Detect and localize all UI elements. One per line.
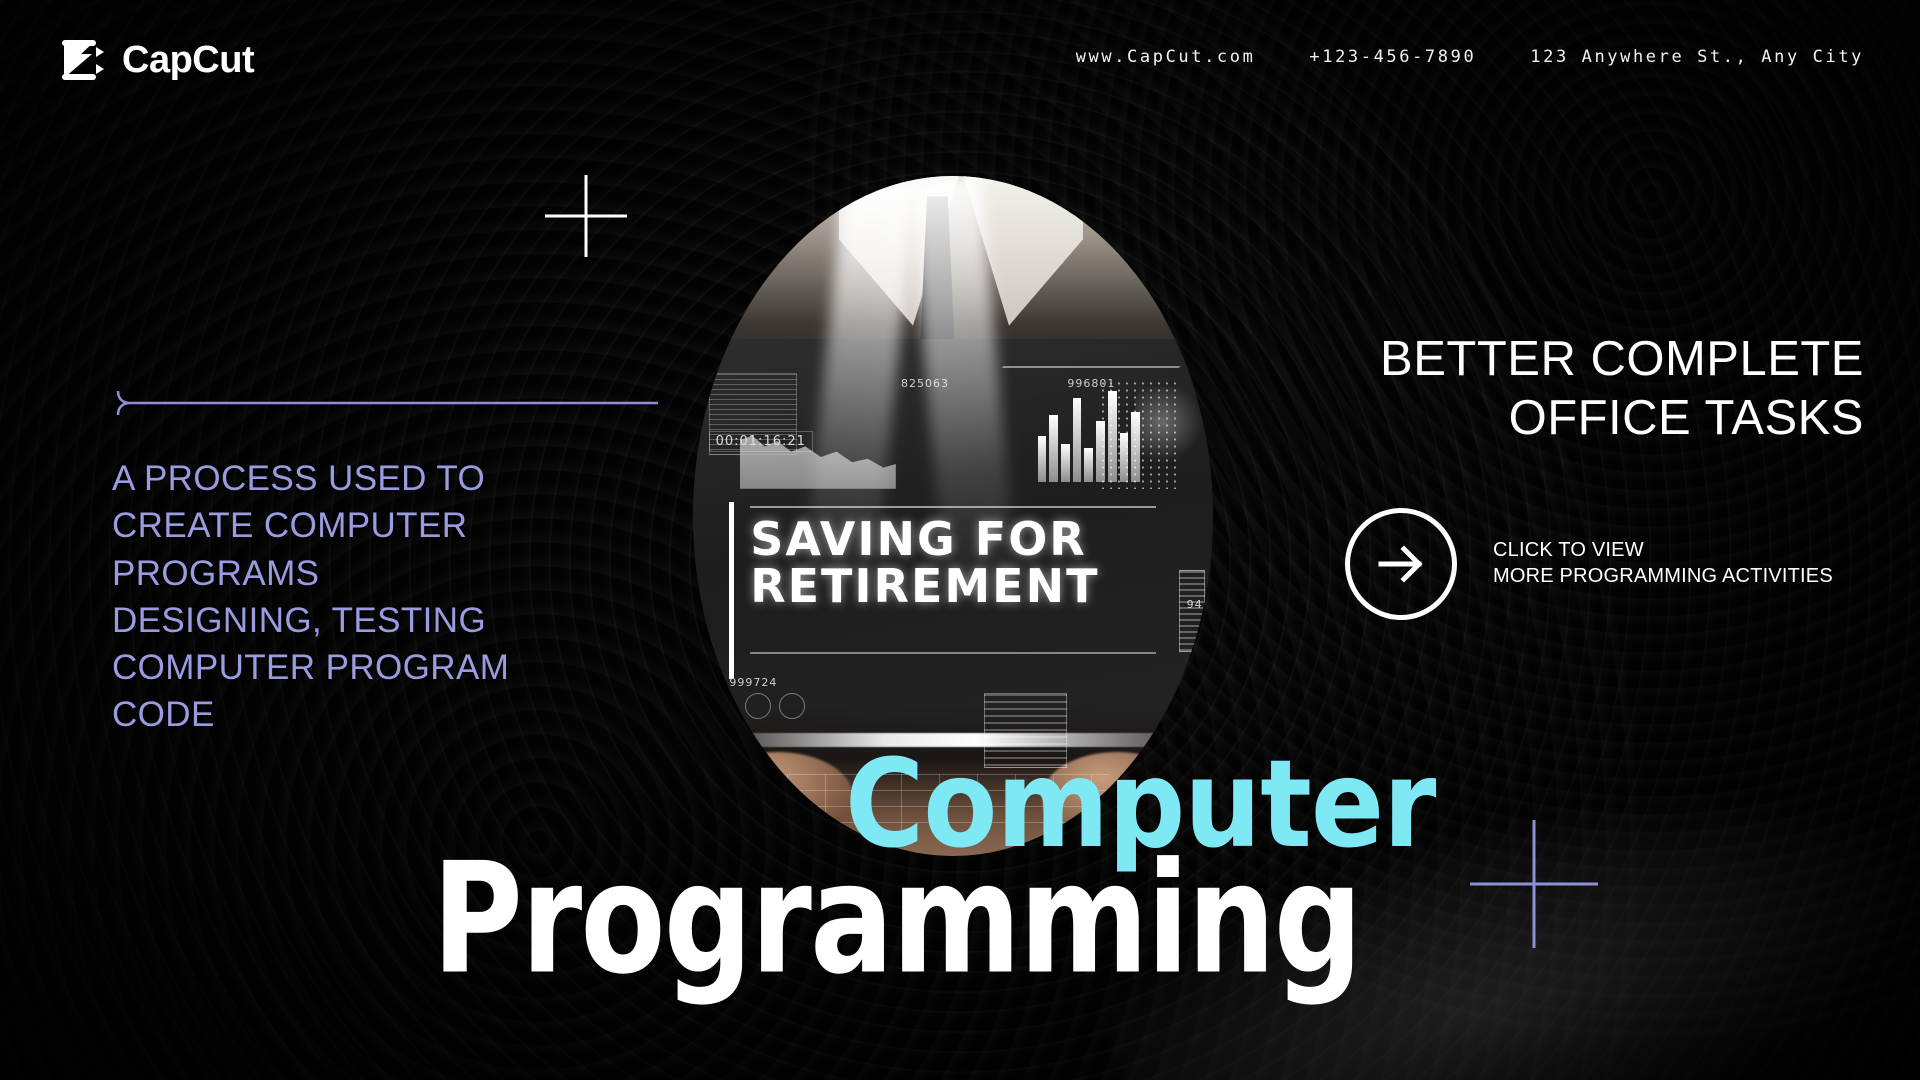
- poster-canvas: CapCut www.CapCut.com +123-456-7890 123 …: [0, 0, 1920, 1080]
- hud-panel-right: [1179, 570, 1205, 652]
- header-contact-row: www.CapCut.com +123-456-7890 123 Anywher…: [1076, 47, 1864, 67]
- left-arrow-line-icon: [112, 390, 658, 416]
- address-text: 123 Anywhere St., Any City: [1530, 47, 1864, 67]
- right-heading-text: BETTER COMPLETE OFFICE TASKS: [1344, 330, 1864, 448]
- cta-label[interactable]: CLICK TO VIEW MORE PROGRAMMING ACTIVITIE…: [1493, 538, 1833, 589]
- arrow-right-circle-icon[interactable]: [1345, 508, 1457, 620]
- hud-gauge-circles: [745, 693, 805, 719]
- hud-code-bottom-left: 999724: [729, 676, 777, 689]
- left-description-text: A PROCESS USED TO CREATE COMPUTER PROGRA…: [112, 455, 582, 739]
- hud-world-map: [1135, 387, 1203, 475]
- hud-rule-bottom: [750, 652, 1156, 654]
- phone-text[interactable]: +123-456-7890: [1309, 47, 1476, 67]
- hud-timecode-text: 00:01:16:21: [709, 431, 813, 452]
- hud-code-top-right: 996801: [1067, 377, 1115, 390]
- cta-block[interactable]: CLICK TO VIEW MORE PROGRAMMING ACTIVITIE…: [1345, 508, 1833, 620]
- hud-accent-bar: [729, 502, 734, 679]
- plus-mark-icon: [545, 175, 627, 257]
- plus-mark-icon: [1470, 820, 1598, 948]
- brand-logo[interactable]: CapCut: [60, 38, 254, 82]
- website-text[interactable]: www.CapCut.com: [1076, 47, 1256, 67]
- capcut-logo-icon: [60, 38, 106, 82]
- brand-name: CapCut: [122, 39, 254, 82]
- hero-title-line-2: Programming: [432, 830, 1361, 1009]
